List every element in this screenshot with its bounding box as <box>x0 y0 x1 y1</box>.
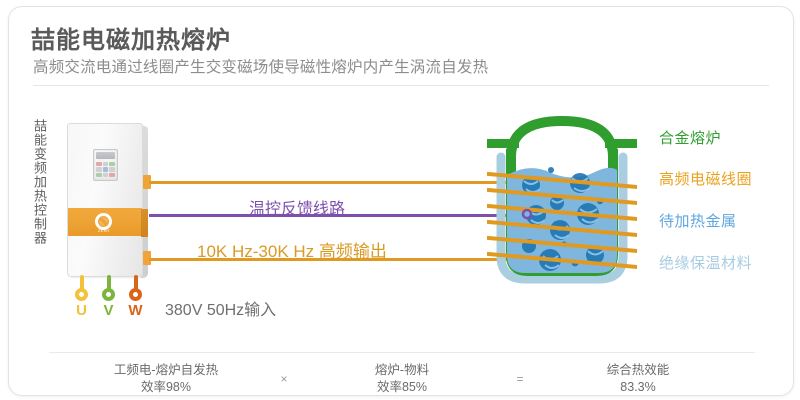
efficiency-term-1-line-1: 工频电-熔炉自发热 <box>91 362 241 379</box>
controller-vertical-label: 喆能变频加热控制器 <box>29 119 47 245</box>
efficiency-result-line-1: 综合热效能 <box>563 362 713 379</box>
device-body: ZENY <box>67 123 143 277</box>
output-frequency-label: 10K Hz-30K Hz 高频输出 <box>197 237 387 262</box>
efficiency-formula: 工频电-熔炉自发热 效率98% × 熔炉-物料 效率85% = 综合热效能 83… <box>49 359 755 396</box>
diagram-card: 喆能电磁加热熔炉 高频交流电通过线圈产生交变磁场使导磁性熔炉内产生涡流自发热 喆… <box>8 6 794 396</box>
power-input-note: 380V 50Hz输入 <box>165 296 276 320</box>
efficiency-term-2: 熔炉-物料 效率85% <box>327 362 477 396</box>
efficiency-term-1: 工频电-熔炉自发热 效率98% <box>91 362 241 396</box>
label-metal-to-heat: 待加热金属 <box>659 210 737 231</box>
label-insulation-material: 绝缘保温材料 <box>659 252 752 273</box>
device-band-side <box>141 209 148 237</box>
terminal-v-ring-icon <box>102 288 115 301</box>
display-screen-area <box>96 152 115 159</box>
label-alloy-furnace: 合金熔炉 <box>659 127 721 148</box>
terminal-w-label: W <box>125 302 146 319</box>
efficiency-term-2-line-1: 熔炉-物料 <box>327 362 477 379</box>
device-display-panel <box>93 149 118 181</box>
furnace-illustration <box>487 115 637 287</box>
display-keypad <box>96 162 115 177</box>
brand-logo-text: ZENY <box>90 228 118 233</box>
label-hf-coil: 高频电磁线圈 <box>659 168 752 189</box>
heating-controller-device: ZENY <box>67 123 149 279</box>
page-subtitle: 高频交流电通过线圈产生交变磁场使导磁性熔炉内产生涡流自发热 <box>33 55 488 77</box>
header-divider <box>33 85 769 86</box>
page-title: 喆能电磁加热熔炉 <box>31 20 231 55</box>
operator-equals: = <box>477 372 563 386</box>
output-wire-top <box>149 181 519 184</box>
efficiency-term-1-line-2: 效率98% <box>91 379 241 396</box>
terminal-w-ring-icon <box>129 288 142 301</box>
terminal-u-label: U <box>71 302 92 319</box>
terminal-u-ring-icon <box>75 288 88 301</box>
operator-multiply: × <box>241 372 327 386</box>
feedback-line-label: 温控反馈线路 <box>249 195 345 219</box>
terminal-v-label: V <box>98 302 119 319</box>
footer-divider <box>49 352 755 353</box>
efficiency-result-line-2: 83.3% <box>563 379 713 396</box>
efficiency-result: 综合热效能 83.3% <box>563 362 713 396</box>
efficiency-term-2-line-2: 效率85% <box>327 379 477 396</box>
